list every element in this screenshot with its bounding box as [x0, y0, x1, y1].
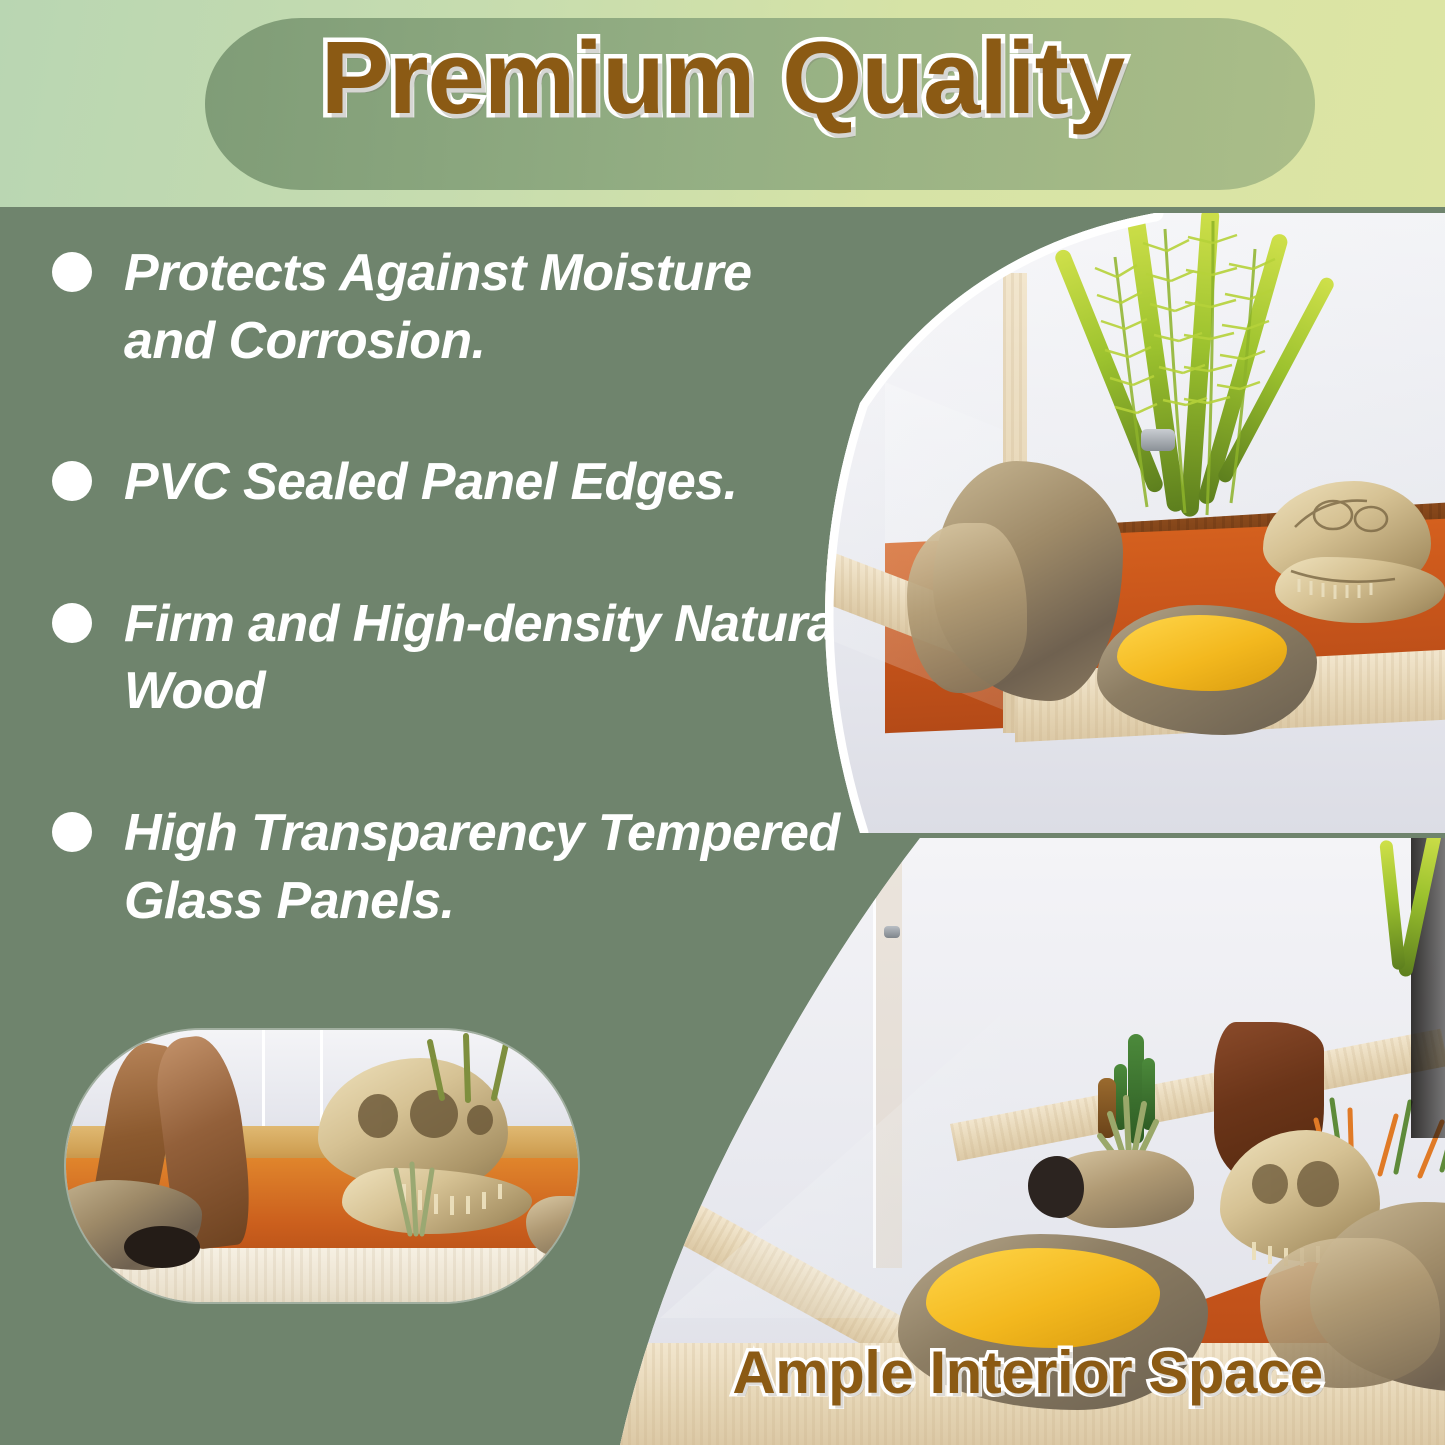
bullet-text-natural-wood: Firm and High-density Natural Wood — [124, 591, 852, 726]
bullet-dot-icon — [52, 603, 92, 643]
bullet-dot-icon — [52, 812, 92, 852]
hinge-screw-icon — [884, 926, 900, 938]
page-title: Premium Quality — [0, 24, 1445, 132]
bullet-text-pvc-edges: PVC Sealed Panel Edges. — [124, 449, 737, 517]
bullet-dot-icon — [52, 252, 92, 292]
list-item: Protects Against Moisture and Corrosion. — [52, 240, 852, 375]
bullet-text-tempered-glass: High Transparency Tempered Glass Panels. — [124, 800, 852, 935]
product-photo-oval-inset — [66, 1030, 578, 1302]
infographic-canvas: Premium Quality Protects Against Moistur… — [0, 0, 1445, 1445]
list-item: Firm and High-density Natural Wood — [52, 591, 852, 726]
list-item: High Transparency Tempered Glass Panels. — [52, 800, 852, 935]
plant-sprig-icon — [422, 1030, 542, 1104]
bottom-caption: Ample Interior Space — [620, 1338, 1435, 1407]
bullet-text-moisture: Protects Against Moisture and Corrosion. — [124, 240, 852, 375]
list-item: PVC Sealed Panel Edges. — [52, 449, 852, 517]
feature-bullet-list: Protects Against Moisture and Corrosion.… — [52, 240, 852, 935]
header-band: Premium Quality — [0, 0, 1445, 207]
bullet-dot-icon — [52, 461, 92, 501]
